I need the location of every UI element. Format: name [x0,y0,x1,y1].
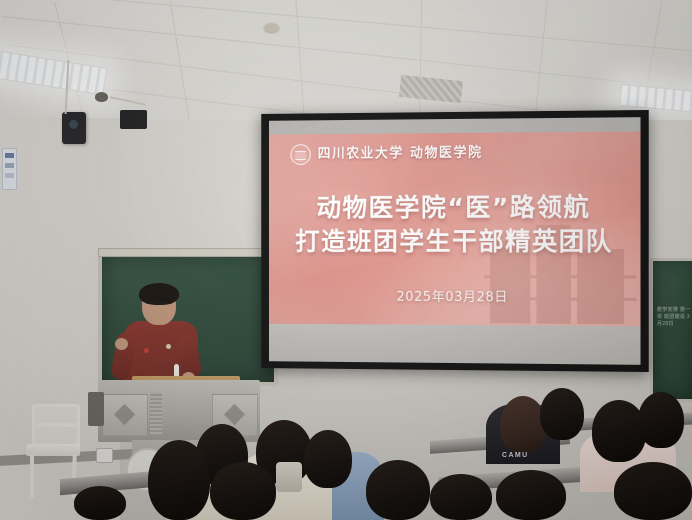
audience-member-head [614,462,692,520]
slide-title-block: 动物医学院“医”路领航 打造班团学生干部精英团队 [269,190,641,259]
chair-leg [30,454,34,498]
lapel-pin [166,344,171,349]
slide-date: 2025年03月28日 [269,290,641,305]
audience-member-head [148,440,210,520]
audience-member-head [366,460,430,520]
jacket-text: CAMU [502,452,529,459]
audience-member-head [210,462,276,520]
presentation-slide: 四川农业大学 动物医学院 动物医学院“医”路领航 打造班团学生干部精英团队 20… [269,131,641,339]
student-bag [276,462,302,492]
wall-speaker-icon [62,112,86,144]
wall-notice [2,148,17,190]
classroom-photo: 教学安排 第一讲 班团建设 3月28日 四川农业大学 动物医学院 动物医 [0,0,692,520]
podium-panel-left [102,394,148,436]
audience-member-head [592,400,646,462]
audience-member-head [430,474,492,520]
lapel-pin [144,348,149,353]
chalkboard-writing: 教学安排 第一讲 班团建设 3月28日 [657,307,691,328]
audience-member-head [500,396,546,454]
screen-margin-bottom [269,324,641,365]
projection-screen: 四川农业大学 动物医学院 动物医学院“医”路领航 打造班团学生干部精英团队 20… [261,110,648,372]
presenter-glasses-icon [146,303,172,310]
audience-member-head [74,486,126,520]
audience-member-head [304,430,352,488]
projector-mount-icon [120,110,147,129]
slide-organization: 四川农业大学 动物医学院 [318,146,483,161]
diamond-motif-icon [114,404,135,425]
slide-title-line-2: 打造班团学生干部精英团队 [269,225,641,260]
audience-member-head [540,388,584,440]
university-crest-icon [290,144,310,165]
presenter-hair [139,283,179,305]
screen-surface: 四川农业大学 动物医学院 动物医学院“医”路领航 打造班团学生干部精英团队 20… [269,117,641,365]
slide-title-line-1: 动物医学院“医”路领航 [269,190,641,225]
presenter-hand-left [115,338,128,350]
ceiling-camera-icon [95,92,108,102]
smoke-detector-icon [264,23,279,32]
podium-side-device [88,392,104,426]
side-chalkboard: 教学安排 第一讲 班团建设 3月28日 [650,258,692,402]
audience-member-head [496,470,566,520]
podium-ridges [150,392,162,436]
slide-header: 四川农业大学 动物医学院 [290,143,482,165]
audience-member-head [638,392,684,448]
diamond-motif-icon [224,404,245,425]
